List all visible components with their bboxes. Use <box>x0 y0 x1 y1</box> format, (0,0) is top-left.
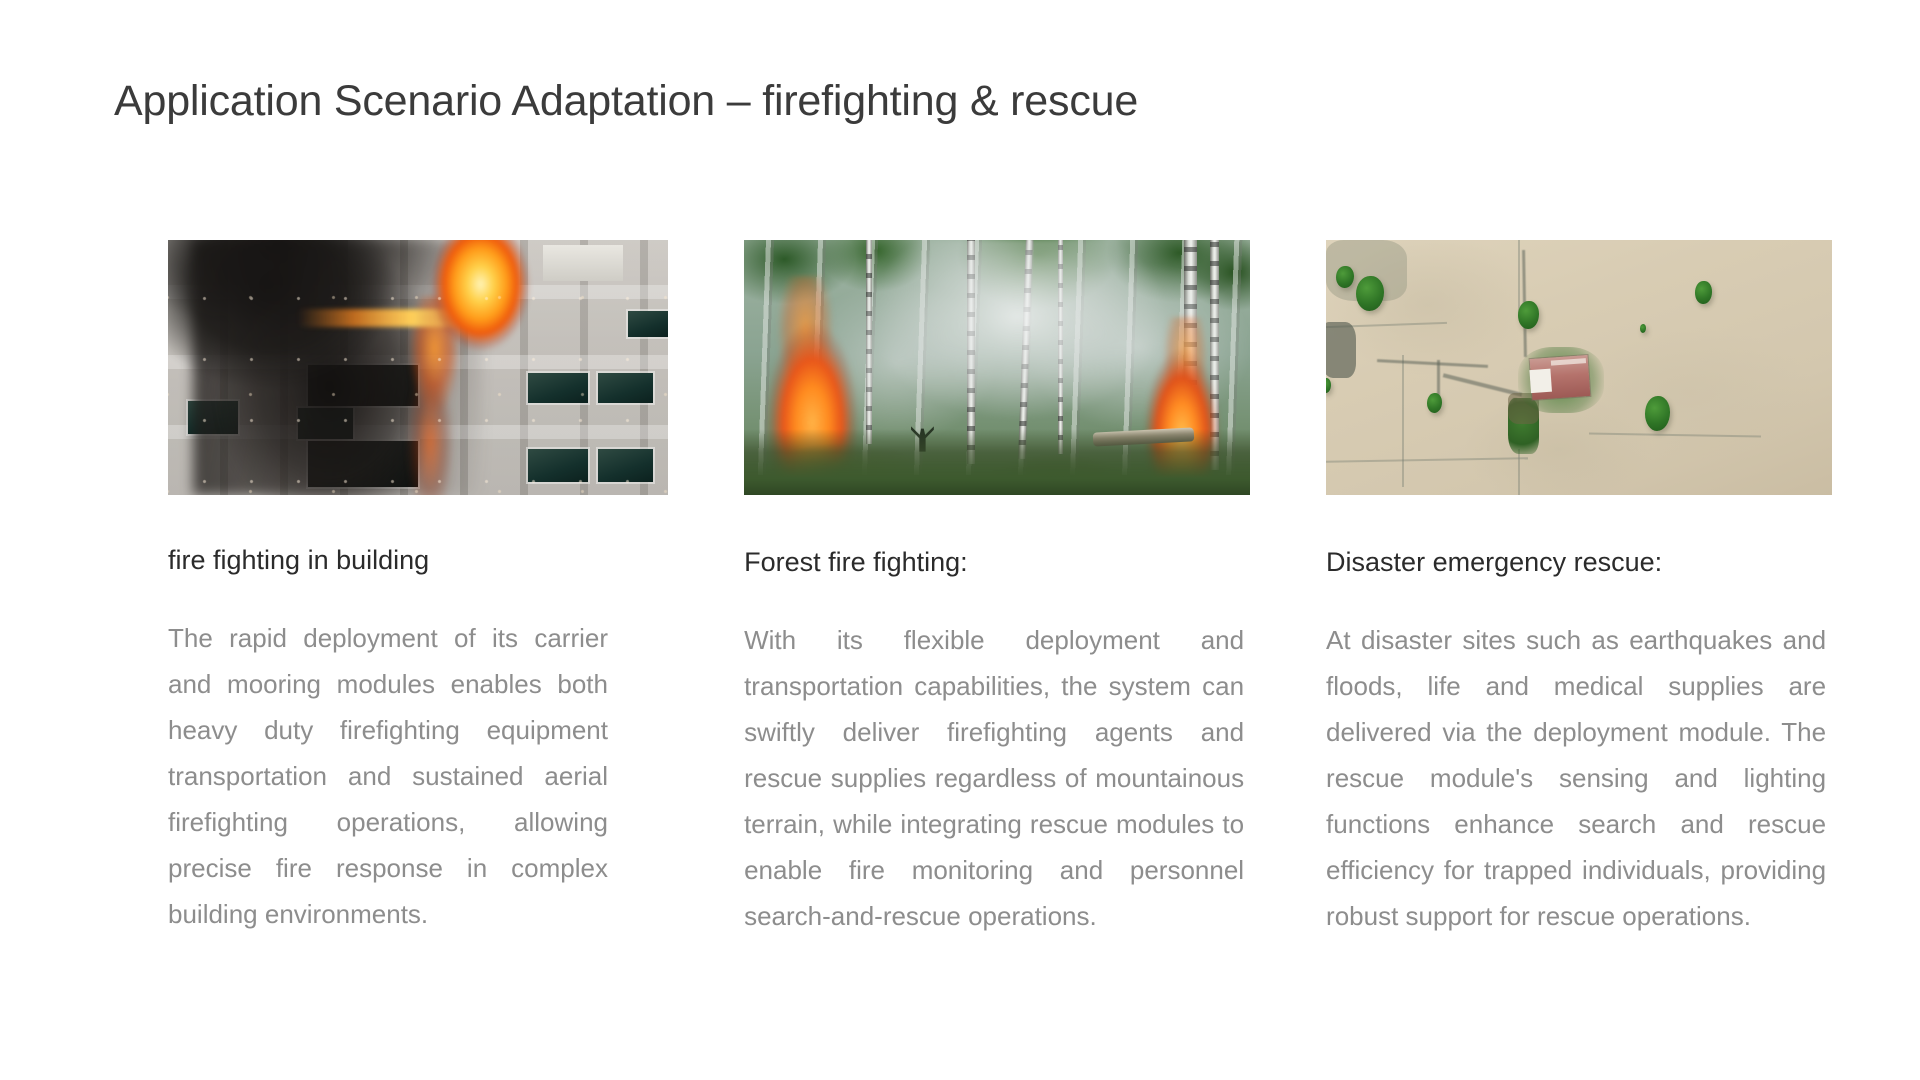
scenario-card-building-fire: fire fighting in building The rapid depl… <box>168 240 668 939</box>
slide-canvas: Application Scenario Adaptation – firefi… <box>0 0 1920 1080</box>
scenario-card-disaster-rescue: Disaster emergency rescue: At disaster s… <box>1326 240 1832 939</box>
building-fire-photo <box>168 240 668 495</box>
embers <box>168 240 668 495</box>
flooded-structure <box>1326 322 1356 378</box>
scenario-card-forest-fire: Forest fire fighting: With its flexible … <box>744 240 1250 939</box>
card-heading: Disaster emergency rescue: <box>1326 548 1832 578</box>
forest-fire-photo <box>744 240 1250 495</box>
house-ridge <box>1551 359 1586 366</box>
forest-floor <box>744 429 1250 495</box>
card-heading: fire fighting in building <box>168 546 668 576</box>
card-body: The rapid deployment of its carrier and … <box>168 615 608 937</box>
flooded-house <box>1530 355 1591 400</box>
submerged-path <box>1437 360 1440 398</box>
card-body: At disaster sites such as earthquakes an… <box>1326 617 1826 939</box>
tree-canopy <box>1640 324 1646 333</box>
field-boundary <box>1402 355 1404 488</box>
card-heading: Forest fire fighting: <box>744 548 1250 578</box>
tree-canopy <box>1518 301 1538 329</box>
page-title: Application Scenario Adaptation – firefi… <box>114 77 1138 126</box>
house-wing <box>1529 369 1552 394</box>
field-boundary <box>1518 449 1520 495</box>
scenario-card-list: fire fighting in building The rapid depl… <box>168 240 1832 939</box>
flood-aerial-photo <box>1326 240 1832 495</box>
card-body: With its flexible deployment and transpo… <box>744 617 1244 939</box>
tree-canopy <box>1695 281 1711 304</box>
